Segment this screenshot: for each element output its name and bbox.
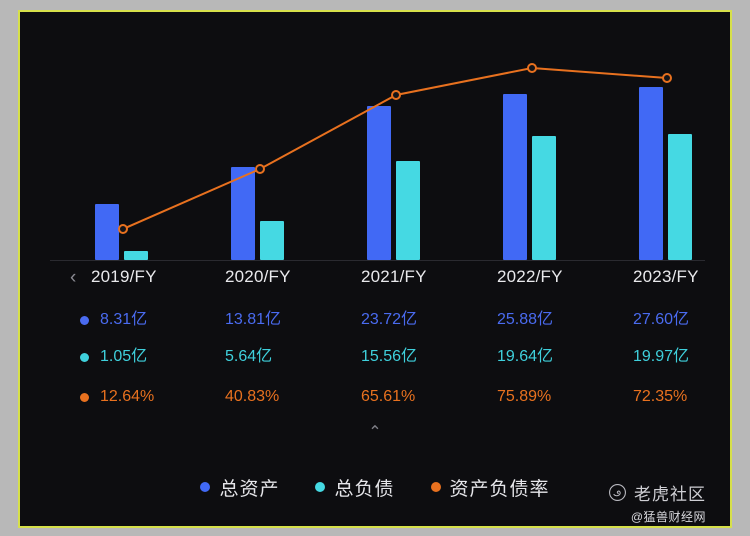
value-liabilities-2019: 1.05亿 <box>80 347 147 367</box>
value-assets-2020: 13.81亿 <box>225 310 281 330</box>
watermark-brand-text: 老虎社区 <box>634 480 706 505</box>
legend-label-total-assets: 总资产 <box>219 474 279 501</box>
value-assets-2022: 25.88亿 <box>497 310 553 330</box>
ratio-marker-2021[interactable] <box>392 91 400 99</box>
value-ratio-2021: 65.61% <box>361 387 415 407</box>
period-label-2019[interactable]: 2019/FY <box>91 267 157 287</box>
chart-card: ‹ 2019/FY 2020/FY 2021/FY 2022/FY 2023/F… <box>18 10 732 528</box>
ratio-marker-2023[interactable] <box>663 74 671 82</box>
previous-period-chevron-icon[interactable]: ‹ <box>70 268 76 287</box>
period-label-2020[interactable]: 2020/FY <box>225 267 291 287</box>
data-row-debt-ratio: 12.64% 40.83% 65.61% 75.89% 72.35% <box>20 387 730 417</box>
series-dot-liabilities-icon <box>80 353 89 362</box>
value-assets-2019: 8.31亿 <box>80 310 147 330</box>
data-row-total-assets: 8.31亿 13.81亿 23.72亿 25.88亿 27.60亿 <box>20 310 730 340</box>
legend-dot-total-assets-icon <box>200 482 210 492</box>
ratio-line-series <box>20 12 730 262</box>
value-ratio-2019: 12.64% <box>80 387 154 407</box>
period-header-row: ‹ 2019/FY 2020/FY 2021/FY 2022/FY 2023/F… <box>20 267 730 301</box>
value-liabilities-2021: 15.56亿 <box>361 347 417 367</box>
collapse-chevron-icon[interactable]: ⌃ <box>20 424 730 442</box>
watermark-brand: 老虎社区 <box>608 480 706 505</box>
legend-dot-total-liabilities-icon <box>315 482 325 492</box>
legend-item-total-assets[interactable]: 总资产 <box>200 474 279 501</box>
value-ratio-2023: 72.35% <box>633 387 687 407</box>
chart-plot-area <box>20 12 730 262</box>
tiger-community-logo-icon <box>608 483 627 502</box>
legend-label-debt-ratio: 资产负债率 <box>450 474 550 501</box>
value-assets-2021: 23.72亿 <box>361 310 417 330</box>
period-label-2023[interactable]: 2023/FY <box>633 267 699 287</box>
ratio-marker-2020[interactable] <box>256 165 264 173</box>
legend-dot-debt-ratio-icon <box>431 482 441 492</box>
data-row-total-liabilities: 1.05亿 5.64亿 15.56亿 19.64亿 19.97亿 <box>20 347 730 377</box>
period-label-2022[interactable]: 2022/FY <box>497 267 563 287</box>
legend-label-total-liabilities: 总负债 <box>334 474 394 501</box>
value-liabilities-2020: 5.64亿 <box>225 347 272 367</box>
legend-item-total-liabilities[interactable]: 总负债 <box>315 474 394 501</box>
watermark-source-text: @猛兽财经网 <box>631 508 706 525</box>
ratio-marker-2022[interactable] <box>528 64 536 72</box>
value-ratio-2020: 40.83% <box>225 387 279 407</box>
value-liabilities-2023: 19.97亿 <box>633 347 689 367</box>
series-dot-ratio-icon <box>80 393 89 402</box>
value-assets-2023: 27.60亿 <box>633 310 689 330</box>
series-dot-assets-icon <box>80 316 89 325</box>
chart-card-inner: ‹ 2019/FY 2020/FY 2021/FY 2022/FY 2023/F… <box>20 12 730 526</box>
ratio-marker-2019[interactable] <box>119 225 127 233</box>
value-liabilities-2022: 19.64亿 <box>497 347 553 367</box>
value-ratio-2022: 75.89% <box>497 387 551 407</box>
period-label-2021[interactable]: 2021/FY <box>361 267 427 287</box>
legend-item-debt-ratio[interactable]: 资产负债率 <box>431 474 550 501</box>
